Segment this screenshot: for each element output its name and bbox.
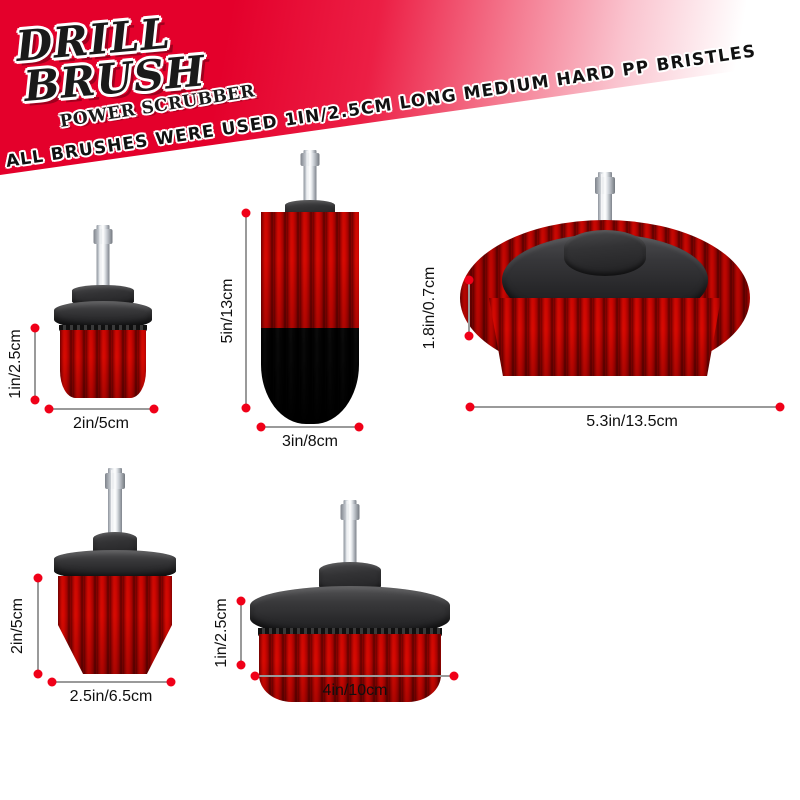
- dim-marker-dot: [33, 670, 42, 679]
- dim-label-width: 2in/5cm: [73, 415, 129, 433]
- bristle-fill: [261, 328, 359, 424]
- dim-marker-dot: [241, 209, 250, 218]
- dim-marker-dot: [150, 404, 159, 413]
- bristles-red: [58, 576, 172, 674]
- dim-line-horizontal: [49, 408, 154, 410]
- dim-marker-dot: [466, 402, 475, 411]
- dim-line-horizontal: [52, 681, 171, 683]
- dim-line-vertical: [240, 601, 242, 665]
- drill-shank-icon: [97, 225, 110, 293]
- dim-marker-dot: [30, 396, 39, 405]
- bristle-fill: [58, 576, 172, 674]
- drill-shank-icon: [304, 150, 317, 206]
- dim-line-vertical: [468, 280, 470, 336]
- brush-hub-boss: [564, 230, 646, 276]
- product-brush-1: [38, 225, 168, 400]
- dim-marker-dot: [167, 677, 176, 686]
- dim-marker-dot: [464, 332, 473, 341]
- dim-line-horizontal: [470, 406, 780, 408]
- brush-backing-plate: [54, 550, 176, 580]
- dim-marker-dot: [355, 422, 364, 431]
- dim-line-vertical: [34, 328, 36, 400]
- dim-label-width: 2.5in/6.5cm: [70, 688, 153, 706]
- bristles-red: [60, 330, 146, 398]
- bristles-red: [261, 212, 359, 332]
- dim-label-width: 5.3in/13.5cm: [586, 413, 678, 431]
- dim-label-height: 1in/2.5cm: [7, 329, 25, 398]
- product-brush-5: [240, 500, 460, 680]
- bristle-fill: [261, 212, 359, 332]
- dim-marker-dot: [450, 671, 459, 680]
- dim-line-vertical: [37, 578, 39, 674]
- dim-marker-dot: [30, 324, 39, 333]
- dim-label-height: 1.8in/0.7cm: [421, 267, 439, 350]
- bristle-fill: [60, 330, 146, 398]
- dim-label-height: 5in/13cm: [219, 279, 237, 344]
- dim-label-width: 3in/8cm: [282, 433, 338, 451]
- dim-marker-dot: [251, 671, 260, 680]
- dim-marker-dot: [464, 276, 473, 285]
- dim-marker-dot: [48, 677, 57, 686]
- dim-line-horizontal: [255, 675, 454, 677]
- dim-marker-dot: [257, 422, 266, 431]
- product-brush-3: [455, 172, 755, 392]
- dim-marker-dot: [236, 661, 245, 670]
- bristle-fill: [489, 298, 721, 376]
- dim-line-horizontal: [261, 426, 359, 428]
- dim-label-width: 4in/10cm: [323, 682, 388, 700]
- dim-marker-dot: [241, 404, 250, 413]
- product-brush-4: [40, 468, 190, 678]
- dim-label-height: 1in/2.5cm: [213, 598, 231, 667]
- bristles-black: [261, 328, 359, 424]
- dim-marker-dot: [776, 402, 785, 411]
- dim-marker-dot: [236, 597, 245, 606]
- bristles-red-front: [489, 298, 721, 376]
- product-brush-2: [245, 150, 375, 420]
- dim-marker-dot: [45, 404, 54, 413]
- dim-marker-dot: [33, 574, 42, 583]
- dim-line-vertical: [245, 213, 247, 408]
- dim-label-height: 2in/5cm: [9, 598, 27, 654]
